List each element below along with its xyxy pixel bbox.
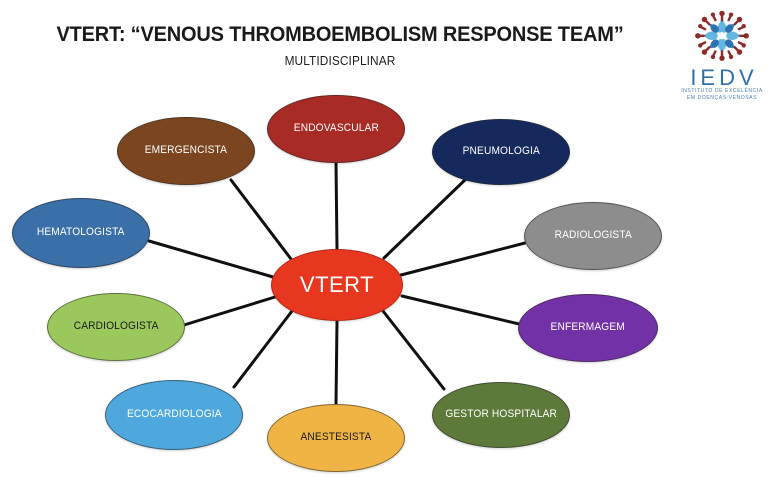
- node-label-cardiologista: CARDIOLOGISTA: [68, 321, 164, 333]
- node-label-endovascular: ENDOVASCULAR: [288, 123, 385, 135]
- slide-canvas: VTERT: “VENOUS THROMBOEMBOLISM RESPONSE …: [0, 0, 769, 489]
- node-anestesista[interactable]: ANESTESISTA: [267, 404, 405, 472]
- edge-vtert-to-hematologista: [149, 241, 273, 277]
- node-gestor-hospitalar[interactable]: GESTOR HOSPITALAR: [432, 382, 570, 448]
- edge-vtert-to-ecocardiologia: [234, 311, 292, 387]
- node-endovascular[interactable]: ENDOVASCULAR: [267, 95, 405, 163]
- node-label-hematologista: HEMATOLOGISTA: [31, 227, 130, 239]
- node-label-emergencista: EMERGENCISTA: [139, 145, 233, 157]
- node-label-radiologista: RADIOLOGISTA: [549, 230, 638, 242]
- edge-vtert-to-endovascular: [336, 163, 337, 249]
- node-hematologista[interactable]: HEMATOLOGISTA: [12, 198, 150, 268]
- vtert-radial-diagram: ENDOVASCULAREMERGENCISTAHEMATOLOGISTACAR…: [0, 0, 769, 489]
- node-label-vtert: VTERT: [294, 273, 380, 297]
- node-label-anestesista: ANESTESISTA: [295, 432, 377, 444]
- node-ecocardiologia[interactable]: ECOCARDIOLOGIA: [105, 380, 243, 450]
- node-emergencista[interactable]: EMERGENCISTA: [117, 117, 255, 185]
- node-pneumologia[interactable]: PNEUMOLOGIA: [432, 119, 570, 185]
- node-enfermagem[interactable]: ENFERMAGEM: [518, 294, 658, 362]
- node-label-gestor-hospitalar: GESTOR HOSPITALAR: [439, 409, 562, 421]
- node-label-enfermagem: ENFERMAGEM: [545, 322, 631, 334]
- edge-vtert-to-emergencista: [231, 180, 291, 259]
- node-vtert[interactable]: VTERT: [271, 249, 403, 321]
- edge-vtert-to-enfermagem: [402, 296, 519, 324]
- edge-vtert-to-radiologista: [401, 243, 525, 275]
- node-cardiologista[interactable]: CARDIOLOGISTA: [47, 293, 185, 361]
- node-radiologista[interactable]: RADIOLOGISTA: [524, 202, 662, 270]
- node-label-pneumologia: PNEUMOLOGIA: [457, 146, 546, 158]
- edge-vtert-to-anestesista: [336, 321, 337, 404]
- node-label-ecocardiologia: ECOCARDIOLOGIA: [121, 409, 227, 421]
- edge-vtert-to-cardiologista: [184, 297, 275, 325]
- edge-vtert-to-pneumologia: [384, 178, 467, 258]
- edge-vtert-to-gestor-hospitalar: [383, 311, 444, 389]
